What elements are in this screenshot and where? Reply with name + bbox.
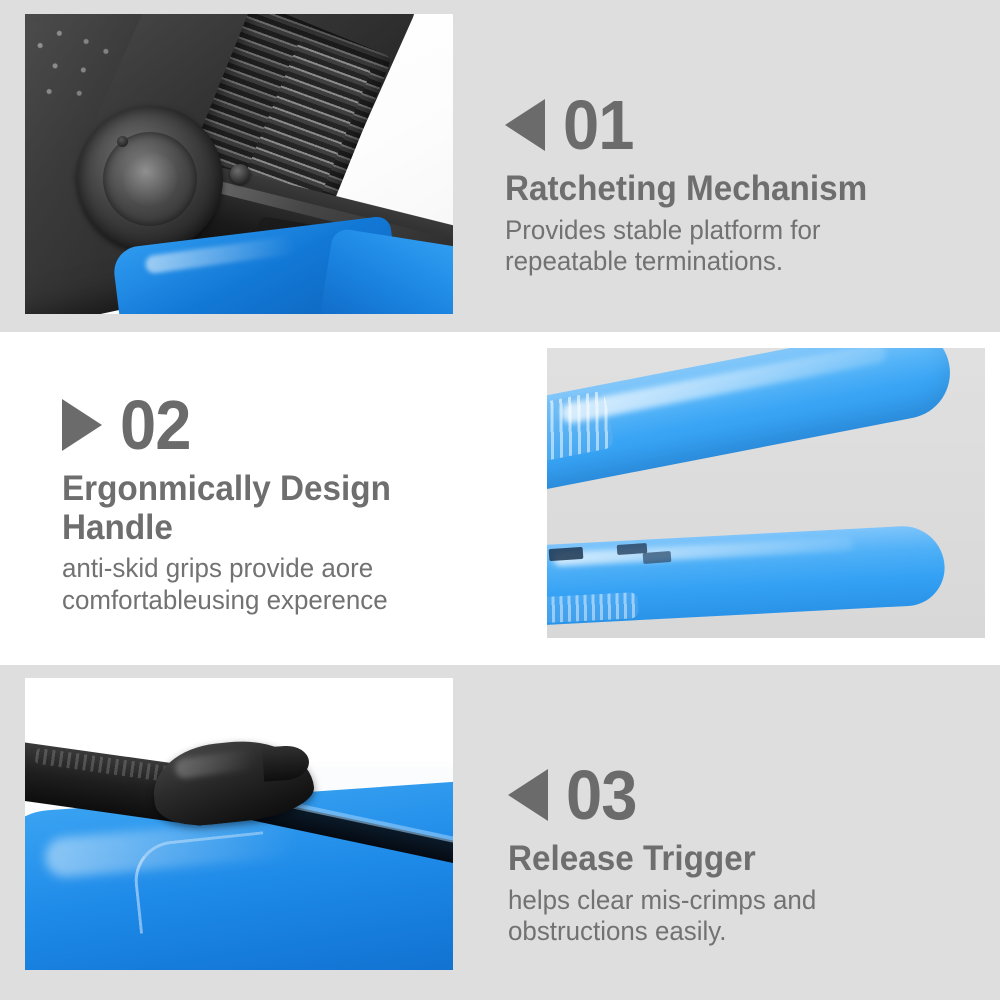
infographic-page: 01 Ratcheting Mechanism Provides stable … bbox=[0, 0, 1000, 1000]
photo-ratchet-mechanism bbox=[25, 14, 453, 314]
pivot-hole bbox=[117, 136, 128, 147]
feature-number-03: 03 bbox=[566, 760, 637, 830]
ratchet-pivot-wheel bbox=[77, 106, 223, 252]
feature-title-03: Release Trigger bbox=[508, 840, 945, 879]
feature-number-row-01: 01 bbox=[505, 88, 975, 162]
handle-notch-c bbox=[643, 551, 672, 564]
feature-description-01: Provides stable platform for repeatable … bbox=[505, 215, 956, 279]
handle-lower-highlight bbox=[553, 537, 853, 567]
feature-number-02: 02 bbox=[120, 390, 191, 460]
triangle-left-icon bbox=[508, 769, 548, 821]
feature-text-02: 02 Ergonmically Design Handle anti-skid … bbox=[62, 388, 492, 617]
feature-number-row-02: 02 bbox=[62, 388, 492, 462]
photo-release-trigger bbox=[25, 678, 453, 970]
triangle-left-icon bbox=[505, 99, 545, 151]
handle-lower-grip-ribs bbox=[547, 592, 639, 624]
photo-blue-handles bbox=[547, 348, 985, 638]
feature-text-03: 03 Release Trigger helps clear mis-crimp… bbox=[508, 758, 968, 948]
feature-number-row-03: 03 bbox=[508, 758, 968, 832]
feature-text-01: 01 Ratcheting Mechanism Provides stable … bbox=[505, 88, 975, 278]
feature-description-02: anti-skid grips provide aore comfortable… bbox=[62, 553, 475, 617]
feature-number-01: 01 bbox=[563, 90, 634, 160]
ratchet-pivot-inner bbox=[123, 152, 177, 206]
pivot-screw bbox=[230, 164, 250, 184]
feature-title-01: Ratcheting Mechanism bbox=[505, 170, 952, 209]
crimper-body-crease bbox=[131, 831, 273, 933]
handle-notch-a bbox=[549, 547, 584, 561]
triangle-right-icon bbox=[62, 399, 102, 451]
feature-title-02: Ergonmically Design Handle bbox=[62, 470, 471, 547]
feature-description-03: helps clear mis-crimps and obstructions … bbox=[508, 885, 950, 949]
